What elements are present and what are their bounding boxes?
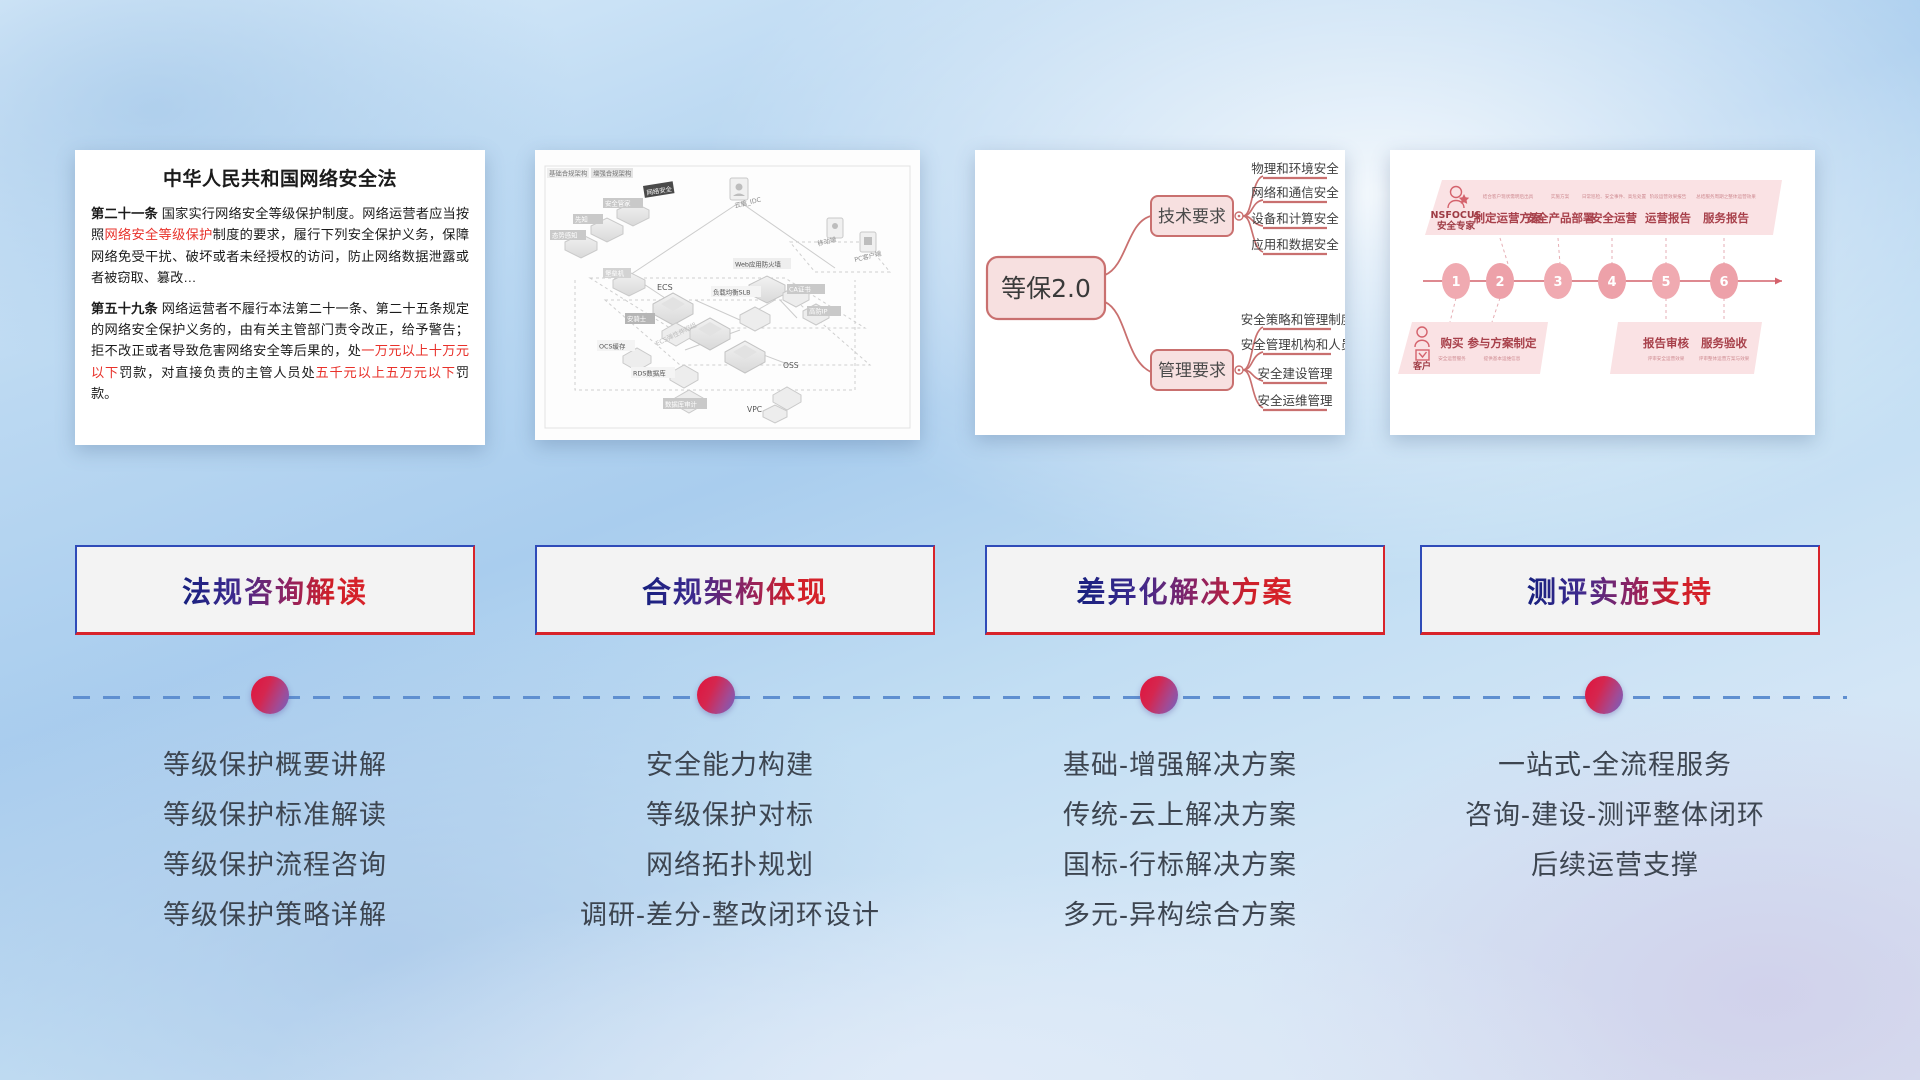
svg-text:ECS: ECS (657, 283, 673, 292)
svg-text:RDS数据库: RDS数据库 (633, 368, 666, 377)
mindmap-svg: 等保2.0 技术要求 (975, 150, 1345, 435)
svg-text:高防IP: 高防IP (809, 307, 828, 316)
svg-text:堡垒机: 堡垒机 (605, 269, 625, 278)
section-detail-column-1: 等级保护概要讲解 等级保护标准解读 等级保护流程咨询 等级保护策略详解 (75, 740, 475, 940)
svg-text:购买: 购买 (1441, 336, 1464, 350)
svg-text:安全专家: 安全专家 (1437, 220, 1476, 232)
svg-text:5: 5 (1661, 275, 1670, 290)
mlps-2-mindmap-card[interactable]: 等保2.0 技术要求 (975, 150, 1345, 435)
svg-text:Web应用防火墙: Web应用防火墙 (735, 259, 781, 268)
section-title-box-2[interactable]: 合规架构体现 (535, 545, 935, 635)
svg-text:日常巡检、安全事件、高危处置: 日常巡检、安全事件、高危处置 (1582, 193, 1647, 200)
svg-text:3: 3 (1553, 275, 1562, 290)
process-svg: 1 2 3 4 5 6 (1390, 150, 1815, 435)
section-detail-row: 等级保护概要讲解 等级保护标准解读 等级保护流程咨询 等级保护策略详解 安全能力… (0, 740, 1920, 960)
section-title-row: 法规咨询解读 合规架构体现 差异化解决方案 测评实施支持 (0, 545, 1920, 645)
architecture-svg: 基础合规架构 增强合规架构 网络安全 态势感知 先知 安全管家 堡垒机 云盾_I… (535, 150, 920, 440)
list-item: 国标-行标解决方案 (975, 840, 1385, 890)
section-title-label-1: 法规咨询解读 (182, 569, 368, 611)
timeline-dot-3[interactable] (1140, 676, 1178, 714)
article-59-text-b: 罚款，对直接负责的主管人员处 (119, 365, 315, 380)
timeline-dot-4[interactable] (1585, 676, 1623, 714)
svg-text:报告审核: 报告审核 (1643, 336, 1689, 350)
svg-text:6: 6 (1719, 275, 1728, 290)
mindmap-diagram: 等保2.0 技术要求 (975, 150, 1345, 435)
svg-text:OSS: OSS (783, 361, 799, 370)
svg-text:安全运维管理: 安全运维管理 (1257, 393, 1333, 408)
svg-text:安全运营服务: 安全运营服务 (1438, 355, 1466, 362)
list-item: 基础-增强解决方案 (975, 740, 1385, 790)
timeline-dot-2[interactable] (697, 676, 735, 714)
svg-text:等保2.0: 等保2.0 (1001, 274, 1091, 303)
svg-text:评审整体运营方案与效果: 评审整体运营方案与效果 (1699, 355, 1750, 362)
list-item: 等级保护标准解读 (75, 790, 475, 840)
section-title-label-3: 差异化解决方案 (1076, 569, 1293, 611)
section-title-box-4[interactable]: 测评实施支持 (1420, 545, 1820, 635)
list-item: 等级保护概要讲解 (75, 740, 475, 790)
article-59-label: 第五十九条 (91, 301, 158, 316)
svg-text:态势感知: 态势感知 (552, 231, 578, 240)
svg-text:总结服务周期之整体运营效果: 总结服务周期之整体运营效果 (1696, 193, 1756, 200)
svg-text:应用和数据安全: 应用和数据安全 (1251, 237, 1339, 252)
section-detail-column-4: 一站式-全流程服务 咨询-建设-测评整体闭环 后续运营支撑 (1405, 740, 1825, 890)
article-59-highlight-b: 五千元以上五万元以下 (316, 365, 456, 380)
law-title: 中华人民共和国网络安全法 (91, 164, 469, 191)
article-21-label: 第二十一条 (91, 206, 158, 221)
svg-text:管理要求: 管理要求 (1158, 361, 1226, 381)
list-item: 多元-异构综合方案 (975, 890, 1385, 940)
section-title-label-4: 测评实施支持 (1527, 569, 1713, 611)
svg-text:评审安全运营效果: 评审安全运营效果 (1648, 355, 1685, 362)
svg-text:安全策略和管理制度: 安全策略和管理制度 (1241, 312, 1345, 327)
svg-text:网络和通信安全: 网络和通信安全 (1251, 185, 1339, 200)
svg-text:阶段运营效果报告: 阶段运营效果报告 (1650, 193, 1687, 200)
svg-text:服务验收: 服务验收 (1701, 336, 1747, 350)
list-item: 后续运营支撑 (1405, 840, 1825, 890)
svg-text:安骑士: 安骑士 (627, 314, 647, 323)
list-item: 等级保护策略详解 (75, 890, 475, 940)
law-text-block: 中华人民共和国网络安全法 第二十一条 国家实行网络安全等级保护制度。网络运营者应… (75, 150, 485, 423)
svg-text:先知: 先知 (575, 215, 588, 224)
section-detail-column-2: 安全能力构建 等级保护对标 网络拓扑规划 调研-差分-整改闭环设计 (525, 740, 935, 940)
svg-text:参与方案制定: 参与方案制定 (1467, 336, 1537, 350)
svg-text:CA证书: CA证书 (789, 285, 811, 294)
architecture-diagram: 基础合规架构 增强合规架构 网络安全 态势感知 先知 安全管家 堡垒机 云盾_I… (535, 150, 920, 440)
list-item: 一站式-全流程服务 (1405, 740, 1825, 790)
svg-text:设备和计算安全: 设备和计算安全 (1251, 211, 1339, 226)
thumbnail-card-row: 中华人民共和国网络安全法 第二十一条 国家实行网络安全等级保护制度。网络运营者应… (0, 150, 1920, 450)
process-diagram: 1 2 3 4 5 6 (1390, 150, 1815, 435)
svg-text:客户: 客户 (1412, 360, 1431, 372)
list-item: 网络拓扑规划 (525, 840, 935, 890)
svg-text:安全管理机构和人员: 安全管理机构和人员 (1241, 337, 1345, 352)
article-21-highlight: 网络安全等级保护 (105, 227, 213, 242)
svg-text:负载均衡SLB: 负载均衡SLB (713, 287, 751, 296)
law-article-59: 第五十九条 网络运营者不履行本法第二十一条、第二十五条规定的网络安全保护义务的，… (91, 298, 469, 405)
svg-text:增强合规架构: 增强合规架构 (593, 169, 631, 178)
svg-text:提供基本运维信息: 提供基本运维信息 (1484, 355, 1521, 362)
law-article-21: 第二十一条 国家实行网络安全等级保护制度。网络运营者应当按照网络安全等级保护制度… (91, 203, 469, 289)
svg-text:2: 2 (1495, 275, 1504, 290)
list-item: 咨询-建设-测评整体闭环 (1405, 790, 1825, 840)
timeline-dashed-line (73, 696, 1847, 699)
svg-text:安全运营: 安全运营 (1591, 211, 1637, 225)
nsfocus-service-process-card[interactable]: 1 2 3 4 5 6 (1390, 150, 1815, 435)
svg-text:运营报告: 运营报告 (1645, 211, 1691, 225)
svg-text:VPC: VPC (747, 405, 762, 414)
svg-text:OCS缓存: OCS缓存 (599, 341, 626, 350)
cloud-compliance-architecture-card[interactable]: 基础合规架构 增强合规架构 网络安全 态势感知 先知 安全管家 堡垒机 云盾_I… (535, 150, 920, 440)
svg-text:1: 1 (1451, 275, 1460, 290)
section-title-box-1[interactable]: 法规咨询解读 (75, 545, 475, 635)
list-item: 传统-云上解决方案 (975, 790, 1385, 840)
timeline-row (0, 668, 1920, 728)
list-item: 等级保护对标 (525, 790, 935, 840)
svg-text:技术要求: 技术要求 (1158, 207, 1226, 227)
svg-text:服务报告: 服务报告 (1703, 211, 1749, 225)
list-item: 安全能力构建 (525, 740, 935, 790)
svg-text:实施方案: 实施方案 (1551, 193, 1570, 200)
svg-text:物理和环境安全: 物理和环境安全 (1251, 161, 1339, 176)
section-title-label-2: 合规架构体现 (642, 569, 828, 611)
section-detail-column-3: 基础-增强解决方案 传统-云上解决方案 国标-行标解决方案 多元-异构综合方案 (975, 740, 1385, 940)
list-item: 等级保护流程咨询 (75, 840, 475, 890)
svg-text:结合客户现状需明后出具: 结合客户现状需明后出具 (1483, 193, 1534, 200)
svg-text:4: 4 (1607, 275, 1616, 290)
svg-text:基础合规架构: 基础合规架构 (549, 169, 587, 178)
list-item: 调研-差分-整改闭环设计 (525, 890, 935, 940)
svg-text:安全产品部署: 安全产品部署 (1526, 211, 1595, 225)
svg-text:安全建设管理: 安全建设管理 (1257, 366, 1333, 381)
svg-text:数据库审计: 数据库审计 (665, 399, 698, 408)
section-title-box-3[interactable]: 差异化解决方案 (985, 545, 1385, 635)
timeline-dot-1[interactable] (251, 676, 289, 714)
cybersecurity-law-card[interactable]: 中华人民共和国网络安全法 第二十一条 国家实行网络安全等级保护制度。网络运营者应… (75, 150, 485, 445)
svg-text:安全管家: 安全管家 (605, 199, 631, 208)
